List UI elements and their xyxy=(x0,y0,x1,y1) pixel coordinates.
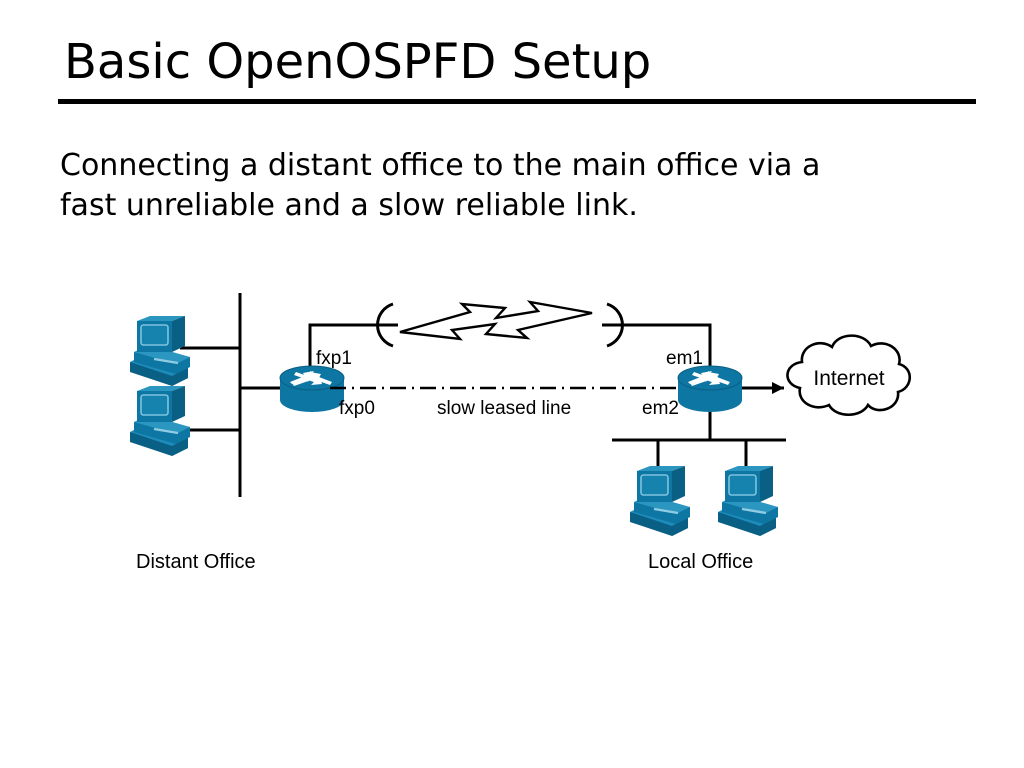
workstation-icon xyxy=(130,316,190,386)
cloud-label: Internet xyxy=(813,367,884,390)
workstation-local-1 xyxy=(630,466,690,536)
site-label-distant-office: Distant Office xyxy=(136,551,256,573)
cloud-icon: Internet xyxy=(787,336,909,415)
network-diagram: fxp1 fxp0 slow leased line em1 xyxy=(0,268,1024,598)
workstation-distant-2 xyxy=(130,386,190,456)
label-fxp1: fxp1 xyxy=(316,348,352,369)
workstation-icon xyxy=(130,386,190,456)
body-line-2: fast unreliable and a slow reliable link… xyxy=(60,186,940,226)
router-icon xyxy=(678,366,742,412)
workstation-icon xyxy=(630,466,690,536)
router-local xyxy=(678,366,742,412)
label-em2: em2 xyxy=(642,398,679,419)
label-fxp0: fxp0 xyxy=(339,398,375,419)
label-slow-leased-line: slow leased line xyxy=(437,398,571,419)
internet-arrowhead xyxy=(772,382,784,394)
workstation-distant-1 xyxy=(130,316,190,386)
slide-body-text: Connecting a distant office to the main … xyxy=(60,146,940,226)
body-line-1: Connecting a distant office to the main … xyxy=(60,146,940,186)
workstation-local-2 xyxy=(718,466,778,536)
page-title: Basic OpenOSPFD Setup xyxy=(64,36,651,90)
workstation-icon xyxy=(718,466,778,536)
site-label-local-office: Local Office xyxy=(648,551,753,573)
label-em1: em1 xyxy=(666,348,703,369)
title-underline-rule xyxy=(58,99,976,104)
wireless-link-icon xyxy=(378,302,623,346)
lightning-bolt xyxy=(400,302,592,339)
slide: Basic OpenOSPFD Setup Connecting a dista… xyxy=(0,0,1024,768)
